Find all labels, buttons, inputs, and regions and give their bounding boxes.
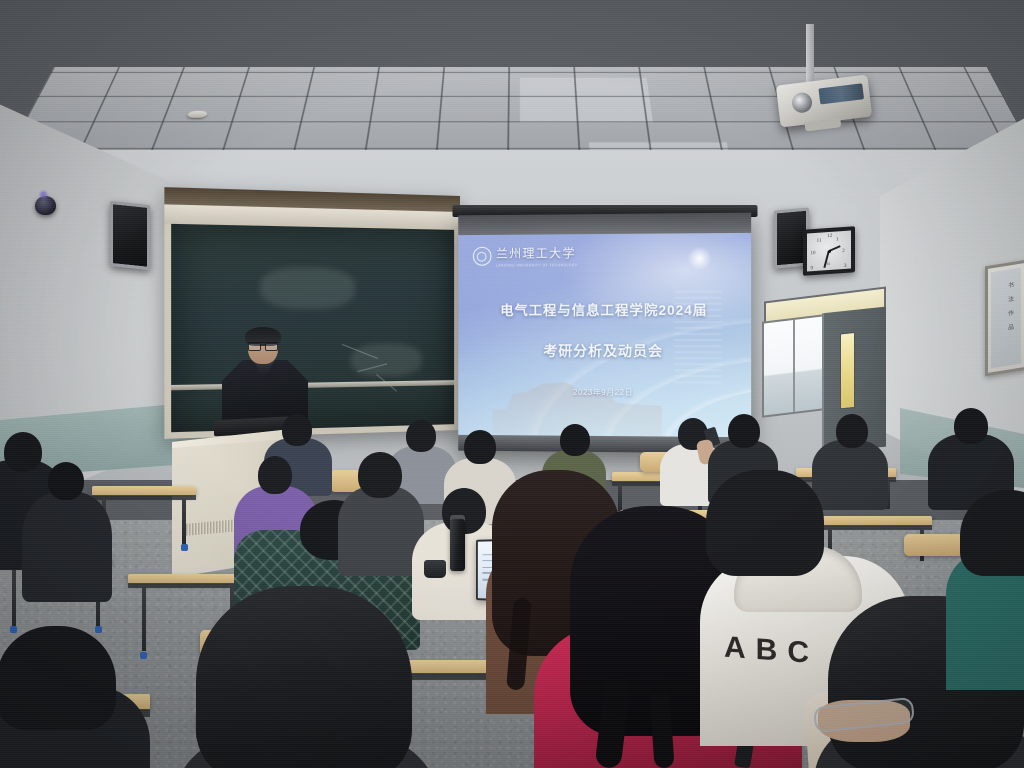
door-viewing-glass [840, 332, 855, 410]
desk-foot [95, 626, 102, 633]
scroll-glyph: 品 [1008, 325, 1014, 333]
chalk-smudge [260, 267, 355, 309]
clock-face: 12 1 2 3 6 9 10 11 [807, 230, 851, 271]
glasses-lens-right [265, 343, 278, 351]
thermos-flask [450, 519, 465, 571]
projector-ports [818, 83, 864, 104]
logo-emblem-icon [473, 247, 492, 266]
dome-security-camera-icon [35, 196, 56, 215]
clock-numeral: 1 [836, 237, 839, 242]
student-head [282, 414, 312, 446]
desk-foot [10, 626, 17, 633]
student-head [706, 470, 824, 576]
clock-numeral: 3 [844, 264, 847, 269]
student-head [406, 420, 436, 452]
screen-top-border [458, 213, 751, 236]
student-torso [22, 492, 112, 602]
student-head [728, 414, 760, 448]
logo-text-english: LANZHOU UNIVERSITY OF TECHNOLOGY [496, 263, 578, 267]
slide-light-sparkle [686, 245, 712, 271]
scroll-artwork: 书 法 作 品 [991, 268, 1021, 369]
student-head [954, 408, 988, 444]
scroll-glyph: 作 [1008, 311, 1014, 319]
clock-numeral: 2 [842, 249, 845, 254]
classroom-photo: 12 1 2 3 6 9 10 11 书 法 作 品 [0, 0, 1024, 768]
scroll-glyph: 法 [1008, 297, 1014, 305]
student-head [48, 462, 84, 500]
student-head [836, 414, 868, 448]
hoodie-graphic-text: ABC [724, 631, 819, 672]
student-head [258, 456, 292, 494]
desk-leg [142, 587, 146, 651]
student-head [560, 424, 590, 456]
desk-foot [181, 544, 188, 551]
student-head [4, 432, 42, 472]
university-logo: 兰州理工大学 LANZHOU UNIVERSITY OF TECHNOLOGY [473, 244, 578, 268]
student-head [196, 586, 412, 768]
logo-text-chinese: 兰州理工大学 [496, 244, 578, 261]
desk-leg [12, 569, 16, 627]
camera-led-icon [40, 191, 47, 198]
chalk-smudge [351, 343, 422, 376]
slide-date: 2023年9月22日 [458, 386, 751, 398]
logo-emblem-inner-icon [477, 251, 487, 261]
window-mullion [793, 320, 795, 412]
chalk-tray [171, 380, 454, 390]
slide-title-line-1: 电气工程与信息工程学院2024届 [458, 298, 751, 319]
clock-center-pin [828, 249, 831, 252]
slide-title-line-2: 考研分析及动员会 [458, 341, 751, 361]
wall-clock: 12 1 2 3 6 9 10 11 [803, 226, 855, 276]
projector-lens-icon [791, 92, 813, 114]
scroll-glyph: 书 [1008, 283, 1014, 291]
slide-title-block: 电气工程与信息工程学院2024届 考研分析及动员会 2023年9月22日 [458, 298, 751, 398]
desk-leg [182, 499, 186, 545]
wall-speaker-left [110, 201, 150, 270]
side-window [762, 314, 824, 418]
desk-edge [92, 495, 196, 500]
chalkboard [164, 187, 460, 439]
student-head [358, 452, 402, 498]
framed-calligraphy-scroll: 书 法 作 品 [985, 260, 1024, 377]
glasses-lens-left [248, 343, 261, 351]
student-head [464, 430, 496, 464]
desk-leg [618, 485, 622, 511]
clock-numeral: 9 [811, 266, 814, 271]
clock-numeral: 10 [811, 251, 816, 256]
eyeglasses-icon [248, 342, 278, 349]
clock-numeral: 6 [827, 262, 830, 267]
clock-numeral: 12 [827, 234, 832, 239]
projector-mount [806, 24, 814, 84]
presentation-slide: 兰州理工大学 LANZHOU UNIVERSITY OF TECHNOLOGY … [458, 233, 751, 437]
projection-screen: 兰州理工大学 LANZHOU UNIVERSITY OF TECHNOLOGY … [458, 213, 751, 454]
student-head [0, 626, 116, 730]
clock-numeral: 11 [817, 239, 822, 244]
desk-foot [140, 652, 147, 659]
student-torso [812, 440, 888, 510]
chalkboard-surface [171, 224, 454, 432]
desk-edge [820, 525, 932, 530]
drinking-cup [424, 560, 446, 578]
